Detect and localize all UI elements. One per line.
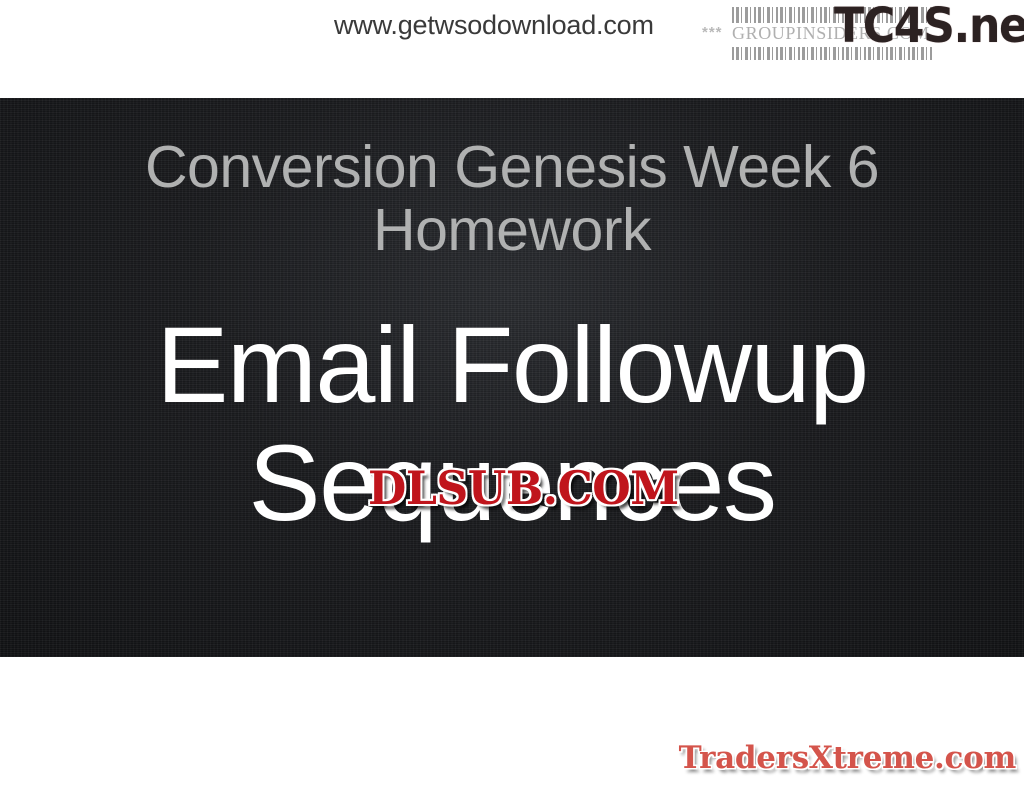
dlsub-watermark-text: DLSUB.COM xyxy=(368,461,679,515)
top-banner-bar: www.getwsodownload.com *** GROUPINSIDERS… xyxy=(0,0,1024,98)
site-url-text: www.getwsodownload.com xyxy=(334,10,654,41)
slide-subtitle: Conversion Genesis Week 6 Homework xyxy=(0,136,1024,262)
bottom-banner-bar: TradersXtreme.com xyxy=(0,690,1024,791)
slide-panel: Conversion Genesis Week 6 Homework Email… xyxy=(0,98,1024,657)
tradersxtreme-watermark-text: TradersXtreme.com xyxy=(679,740,1016,776)
asterisks-text: *** xyxy=(702,24,723,41)
tc4s-watermark-text: TC4S.net xyxy=(834,0,1024,54)
